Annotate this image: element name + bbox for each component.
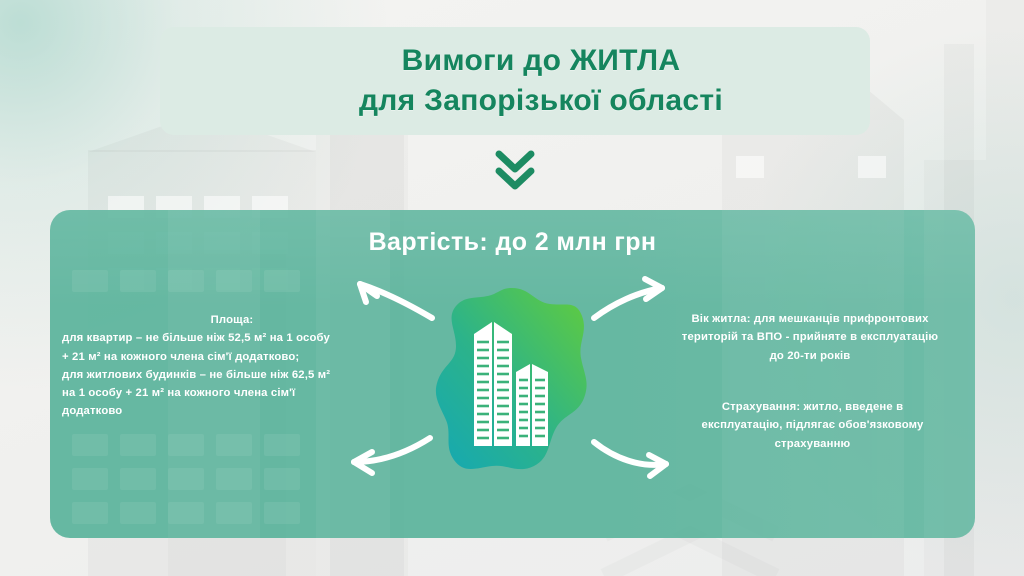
- title-line-1: Вимоги до ЖИТЛА: [402, 44, 681, 78]
- buildings-icon: [470, 310, 554, 450]
- age-line-2: територій та ВПО - прийняте в експлуатац…: [640, 328, 980, 346]
- area-heading: Площа:: [62, 311, 402, 329]
- area-line-5: додатково: [62, 402, 402, 420]
- chevron-double-down-icon: [493, 148, 537, 194]
- insurance-line-2: експлуатацію, підлягає обов'язковому: [650, 416, 975, 434]
- infographic-canvas: Вимоги до ЖИТЛА для Запорізької області: [0, 0, 1024, 576]
- age-line-3: до 20-ти років: [640, 347, 980, 365]
- insurance-line-3: страхуванню: [650, 435, 975, 453]
- insurance-line-1: Страхування: житло, введене в: [650, 398, 975, 416]
- area-line-4: на 1 особу + 21 м² на кожного члена сім'…: [62, 384, 402, 402]
- cost-title: Вартість: до 2 млн грн: [50, 228, 975, 257]
- title-line-2: для Запорізької області: [359, 84, 723, 118]
- housing-age-block: Вік житла: для мешканців прифронтових те…: [640, 310, 980, 365]
- area-line-2: + 21 м² на кожного члена сім'ї додатково…: [62, 348, 402, 366]
- page-title: Вимоги до ЖИТЛА для Запорізької області: [160, 27, 870, 135]
- area-line-3: для житлових будинків – не більше ніж 62…: [62, 366, 402, 384]
- area-line-1: для квартир – не більше ніж 52,5 м² на 1…: [62, 329, 402, 347]
- area-requirements-block: Площа: для квартир – не більше ніж 52,5 …: [62, 311, 402, 421]
- insurance-block: Страхування: житло, введене в експлуатац…: [650, 398, 975, 453]
- age-line-1: Вік житла: для мешканців прифронтових: [640, 310, 980, 328]
